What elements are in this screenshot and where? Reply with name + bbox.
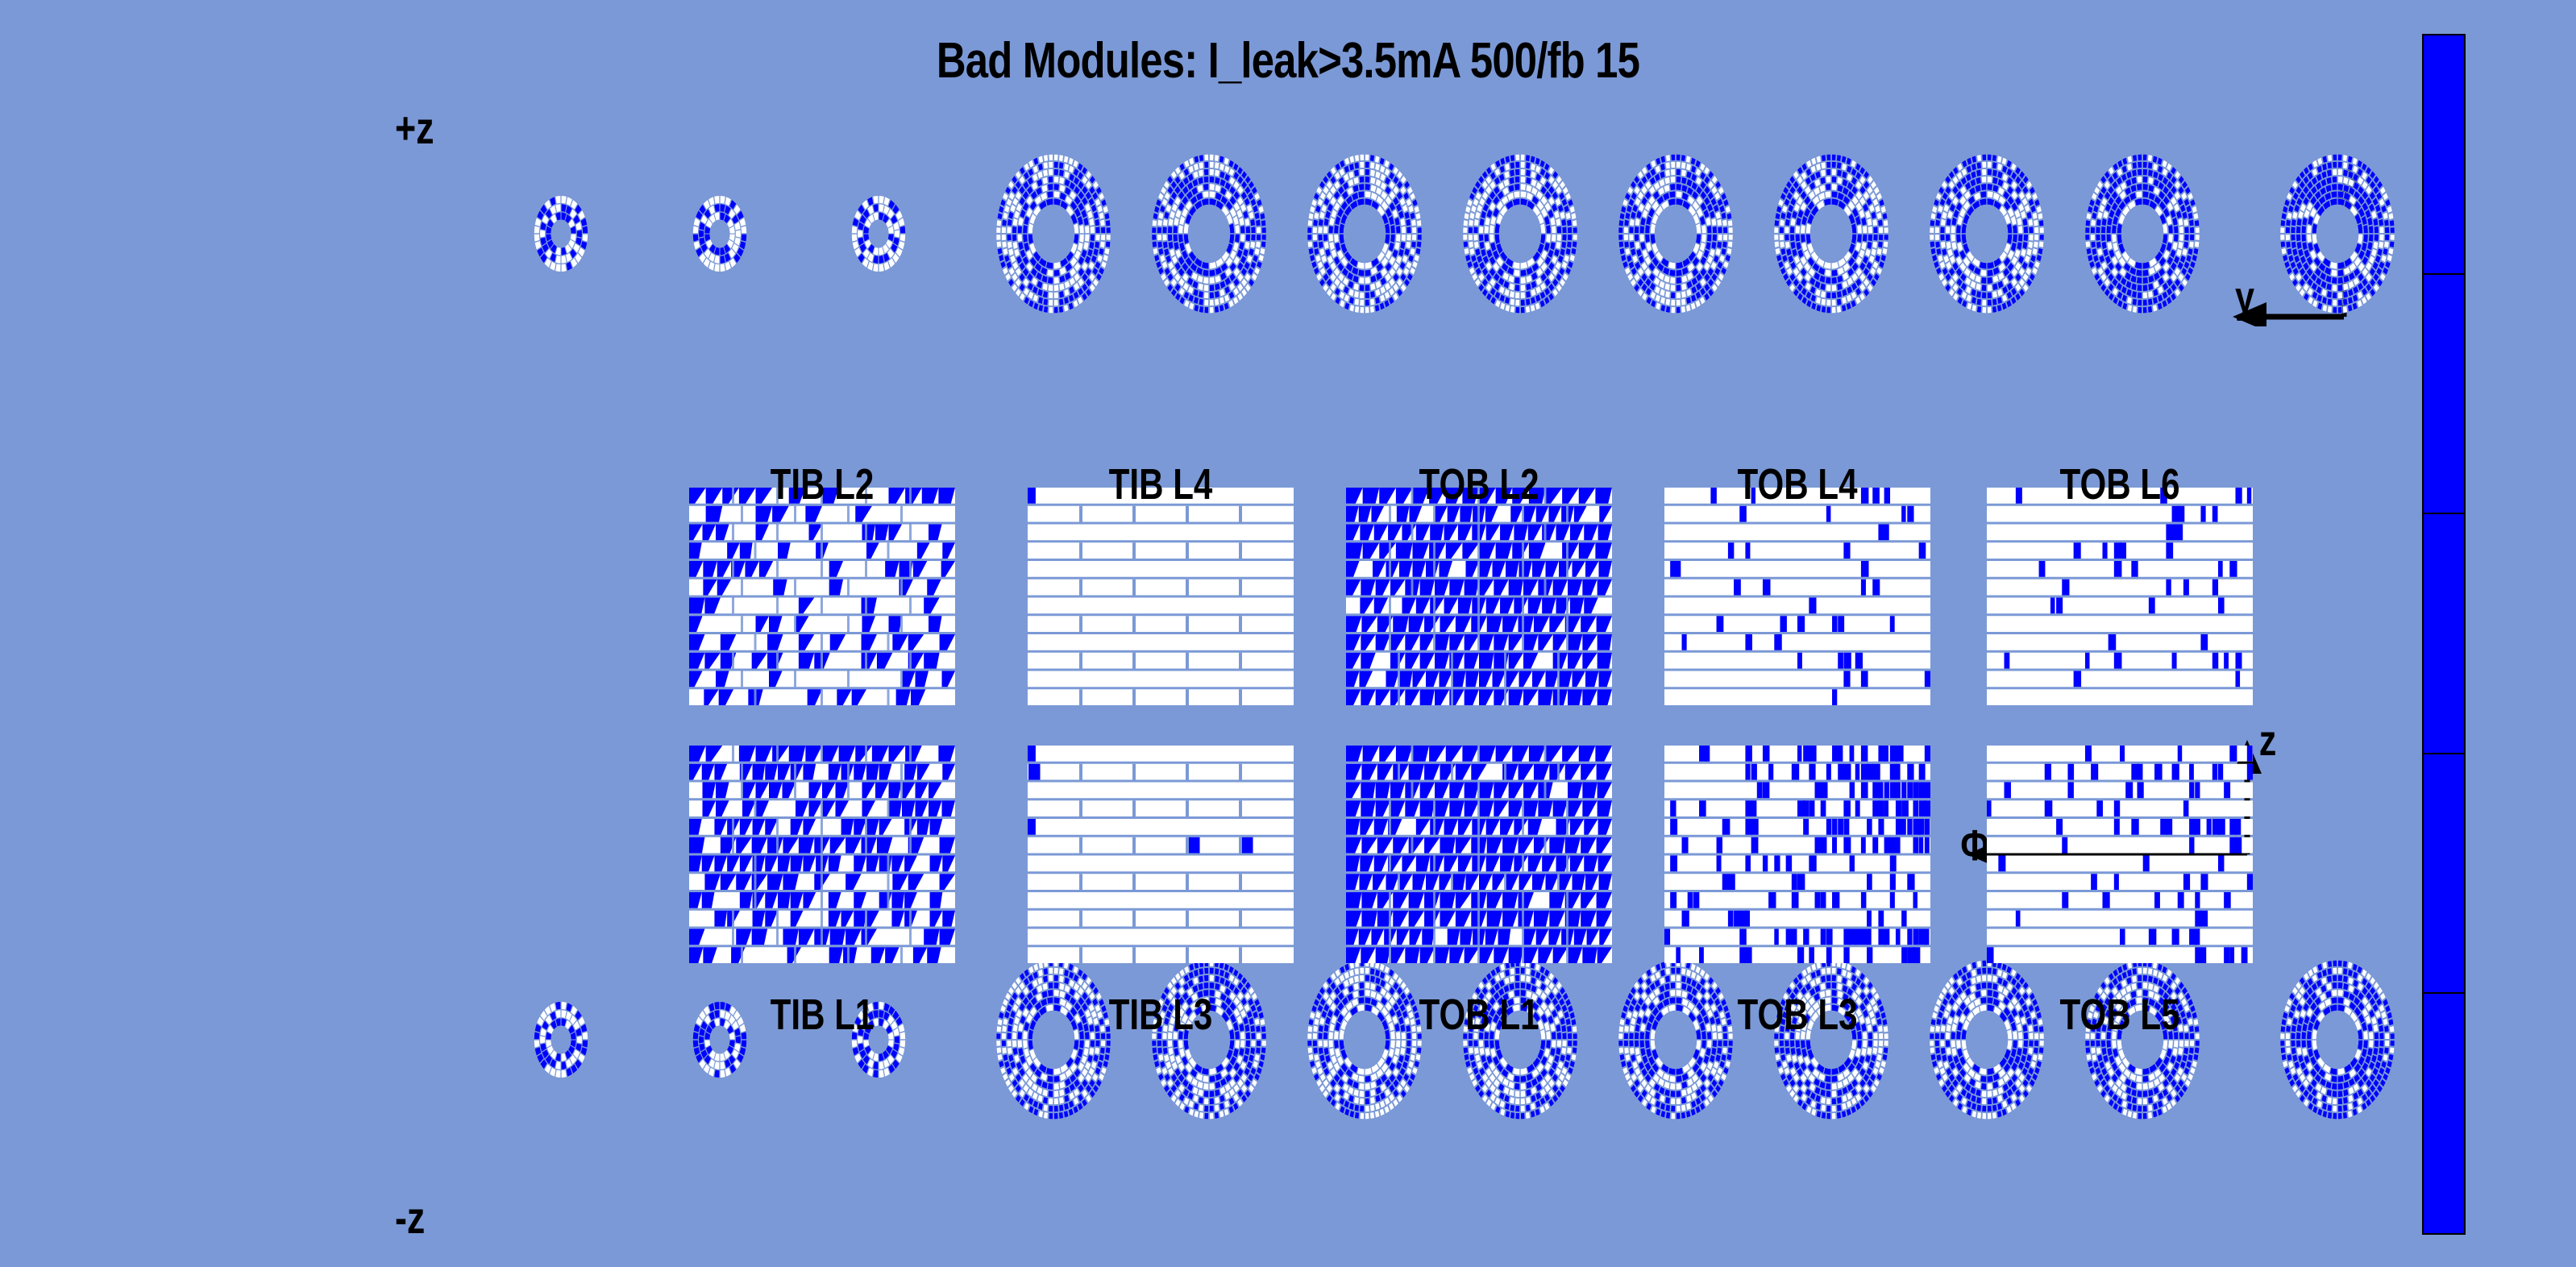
disk-module	[1323, 1024, 1329, 1032]
disk-module	[1349, 297, 1355, 305]
disk-module	[1365, 269, 1371, 276]
disk-module	[1048, 277, 1053, 285]
disk-module	[1168, 242, 1174, 250]
disk-module	[1048, 292, 1053, 298]
disk-module	[1089, 1048, 1095, 1056]
disk-module	[1871, 211, 1876, 219]
disk-module	[1406, 235, 1411, 241]
disk-module	[1059, 1097, 1065, 1104]
disk-module	[1883, 220, 1888, 226]
disk-module	[1676, 307, 1681, 314]
disk-module	[1639, 226, 1644, 234]
disk-module	[1531, 1111, 1535, 1118]
disk-module	[1312, 226, 1317, 233]
disk-module	[2122, 302, 2128, 310]
disk-module	[1664, 185, 1670, 193]
disk-module	[1727, 1047, 1732, 1053]
disk-module	[2337, 269, 2344, 276]
disk-module	[1354, 975, 1360, 982]
disk-module	[1043, 1104, 1048, 1111]
disk-module	[1365, 168, 1369, 175]
disk-module	[1104, 1053, 1110, 1061]
disk-module	[1521, 307, 1525, 314]
disk-module	[1873, 235, 1878, 241]
disk-module	[1059, 155, 1064, 162]
disk-module	[1375, 969, 1381, 977]
tec-disk[interactable]	[2078, 147, 2207, 321]
disk-module	[1239, 217, 1244, 226]
disk-module	[1404, 1054, 1410, 1062]
disk-module	[1048, 168, 1053, 175]
disk-module	[2317, 157, 2323, 165]
disk-module	[1245, 226, 1250, 233]
disk-module	[1514, 277, 1520, 285]
disk-module	[2018, 234, 2023, 242]
disk-module	[1531, 305, 1535, 312]
disk-module	[2322, 163, 2328, 171]
disk-module	[2132, 169, 2138, 177]
disk-module	[1867, 242, 1872, 250]
disk-module	[2026, 248, 2032, 256]
disk-module	[1635, 226, 1639, 233]
disk-module	[1152, 1047, 1157, 1053]
disk-module	[1831, 277, 1837, 285]
disk-module	[1412, 235, 1417, 241]
disk-module	[1047, 1075, 1053, 1082]
disk-module	[1415, 213, 1421, 220]
disk-module	[2138, 161, 2142, 168]
disk-module	[2348, 156, 2353, 163]
disk-module	[1323, 242, 1329, 250]
disk-module	[1884, 227, 1888, 234]
disk-module	[1244, 242, 1250, 250]
disk-module	[1711, 242, 1717, 250]
disk-module	[1194, 1111, 1199, 1118]
disk-module	[1660, 1111, 1665, 1118]
disk-module	[996, 227, 1001, 234]
disk-module	[1526, 283, 1531, 291]
disk-module	[2017, 242, 2022, 251]
disk-module	[1981, 168, 1986, 175]
disk-module	[1520, 285, 1526, 292]
disk-module	[1987, 168, 1992, 175]
disk-module	[2307, 225, 2312, 234]
disk-module	[1837, 305, 1842, 313]
disk-module	[1976, 177, 1981, 185]
disk-module	[1174, 217, 1179, 226]
disk-module	[1194, 163, 1199, 171]
disk-module	[1670, 982, 1676, 990]
disk-module	[2112, 234, 2117, 243]
disk-module	[2142, 285, 2148, 292]
disk-module	[999, 206, 1004, 213]
tid-disk[interactable]	[527, 189, 595, 279]
disk-module	[1359, 1083, 1365, 1090]
disk-module	[1307, 227, 1312, 234]
disk-module	[1152, 227, 1157, 234]
disk-module	[1816, 156, 1821, 163]
disk-module	[2281, 213, 2287, 220]
disk-module	[1715, 1054, 1721, 1062]
disk-module	[1365, 191, 1371, 198]
disk-module	[2092, 212, 2097, 219]
disk-module	[1414, 1061, 1419, 1068]
disk-module	[1837, 1081, 1843, 1089]
disk-module	[1314, 212, 1319, 219]
disk-module	[1785, 1047, 1791, 1054]
disk-module	[1375, 156, 1380, 163]
disk-module	[1669, 997, 1676, 1004]
disk-module	[1203, 292, 1208, 298]
disk-module	[2352, 302, 2358, 310]
disk-module	[1068, 302, 1074, 310]
disk-module	[1671, 967, 1676, 974]
disk-module	[2132, 291, 2138, 298]
disk-module	[1047, 997, 1053, 1004]
disk-module	[1624, 241, 1630, 248]
disk-module	[2085, 235, 2090, 241]
disk-module	[1064, 305, 1069, 312]
disk-module	[1468, 226, 1473, 233]
disk-module	[1629, 235, 1634, 241]
disk-module	[1520, 191, 1527, 198]
disk-module	[1987, 177, 1992, 184]
disk-module	[1514, 184, 1520, 191]
disk-module	[1105, 1047, 1110, 1053]
disk-module	[1573, 1041, 1577, 1047]
tec-disk[interactable]	[1145, 953, 1273, 1127]
disk-module	[1951, 234, 1955, 242]
tec-disk[interactable]	[1456, 953, 1585, 1127]
disk-module	[1012, 235, 1017, 242]
disk-module	[1546, 225, 1551, 234]
disk-module	[2337, 168, 2342, 175]
disk-module	[1095, 241, 1100, 248]
disk-module	[1406, 1041, 1411, 1047]
disk-module	[2327, 291, 2333, 298]
disk-module	[2377, 248, 2383, 256]
disk-module	[1821, 155, 1826, 162]
disk-module	[2131, 177, 2137, 185]
disk-module	[1660, 1103, 1666, 1111]
disk-module	[1068, 1108, 1074, 1116]
disk-module	[1569, 206, 1575, 213]
disk-module	[1194, 969, 1199, 977]
tec-disk[interactable]	[1611, 953, 1740, 1127]
tid-disk[interactable]	[686, 189, 754, 279]
disk-module	[1189, 302, 1195, 310]
disk-module	[1209, 1098, 1214, 1104]
tec-disk[interactable]	[989, 147, 1118, 321]
disk-module	[1003, 248, 1008, 255]
disk-module	[1359, 184, 1365, 191]
disk-module	[1396, 234, 1401, 242]
tec-disk[interactable]	[1767, 147, 1896, 321]
disk-module	[1560, 248, 1565, 256]
disk-module	[1318, 1032, 1323, 1039]
tec-disk[interactable]	[1456, 147, 1585, 321]
disk-module	[1359, 990, 1365, 997]
disk-module	[1645, 234, 1650, 243]
disk-module	[1568, 235, 1573, 241]
disk-module	[1334, 1031, 1339, 1040]
disk-module	[1515, 161, 1520, 168]
tec-disk[interactable]	[989, 953, 1118, 1127]
disk-module	[1053, 285, 1059, 292]
disk-module	[2032, 248, 2038, 255]
disk-module	[2281, 247, 2287, 255]
disk-module	[1997, 156, 2002, 163]
tec-disk[interactable]	[1300, 953, 1429, 1127]
disk-module	[1484, 234, 1489, 242]
disk-module	[1047, 269, 1053, 276]
disk-module	[1811, 302, 1817, 310]
tid-disk[interactable]	[527, 995, 595, 1085]
disk-module	[1876, 248, 1882, 255]
disk-module	[2142, 299, 2147, 305]
disk-module	[1776, 206, 1782, 213]
disk-module	[1842, 969, 1847, 977]
disk-module	[1826, 307, 1830, 314]
disk-module	[1569, 1061, 1575, 1068]
disk-module	[1785, 218, 1791, 226]
disk-module	[1360, 1105, 1365, 1111]
disk-module	[2195, 235, 2200, 241]
disk-module	[1535, 302, 1540, 310]
disk-module	[1706, 217, 1711, 226]
disk-module	[1463, 1047, 1468, 1053]
disk-module	[1520, 269, 1527, 276]
disk-module	[1203, 191, 1209, 198]
disk-module	[1344, 963, 1350, 971]
disk-module	[1635, 1024, 1640, 1032]
disk-module	[1365, 177, 1370, 184]
disk-module	[1930, 241, 1934, 247]
tec-disk[interactable]	[2273, 147, 2402, 321]
disk-module	[1002, 1047, 1008, 1054]
tec-disk[interactable]	[1767, 953, 1896, 1127]
disk-module	[1631, 1054, 1636, 1062]
disk-module	[2194, 241, 2199, 247]
disk-module	[2106, 234, 2111, 242]
disk-module	[1334, 1040, 1339, 1049]
disk-module	[1194, 305, 1199, 312]
disk-module	[2127, 305, 2132, 312]
disk-module	[1509, 283, 1514, 291]
disk-module	[1354, 155, 1359, 162]
disk-module	[1883, 1047, 1888, 1053]
disk-module	[1017, 1040, 1022, 1048]
disk-module	[1665, 1111, 1670, 1119]
disk-module	[1344, 302, 1350, 310]
disk-module	[1837, 169, 1843, 177]
disk-module	[2096, 218, 2102, 226]
disk-module	[2039, 227, 2044, 234]
disk-module	[1219, 297, 1225, 305]
disk-module	[2384, 219, 2390, 226]
disk-module	[1837, 275, 1843, 283]
disk-module	[1059, 305, 1064, 313]
disk-module	[1204, 307, 1208, 314]
disk-module	[2348, 163, 2354, 171]
disk-module	[1795, 234, 1800, 242]
disk-module	[1370, 291, 1376, 298]
disk-module	[2179, 235, 2183, 242]
disk-module	[1256, 219, 1261, 226]
disk-module	[1876, 212, 1882, 219]
disk-module	[1975, 185, 1981, 193]
disk-module	[1717, 241, 1722, 248]
disk-module	[1203, 177, 1209, 184]
disk-module	[1515, 967, 1520, 974]
disk-module	[2023, 235, 2028, 242]
disk-module	[1837, 291, 1843, 298]
disk-module	[1370, 1089, 1376, 1097]
disk-module	[2291, 226, 2296, 233]
disk-module	[2172, 242, 2178, 251]
disk-module	[2192, 255, 2197, 262]
disk-module	[1157, 219, 1163, 226]
disk-module	[1670, 990, 1676, 997]
disk-module	[1048, 1090, 1053, 1098]
disk-module	[1042, 1089, 1048, 1097]
disk-module	[1676, 177, 1681, 184]
disk-module	[2157, 302, 2163, 310]
disk-module	[1562, 235, 1567, 241]
disk-module	[1670, 1083, 1676, 1090]
disk-module	[1375, 163, 1381, 171]
disk-module	[1826, 1083, 1831, 1090]
disk-module	[1520, 161, 1525, 168]
disk-module	[2332, 184, 2337, 191]
disk-module	[1526, 1089, 1531, 1097]
disk-module	[1359, 285, 1365, 292]
disk-module	[2326, 177, 2332, 185]
disk-module	[1473, 1041, 1478, 1047]
disk-module	[1406, 218, 1411, 226]
disk-module	[1816, 305, 1821, 312]
disk-module	[1358, 191, 1365, 198]
disk-module	[2184, 226, 2189, 233]
disk-module	[1359, 277, 1365, 285]
disk-module	[1785, 1041, 1789, 1047]
disk-module	[1879, 235, 1884, 241]
disk-module	[2106, 226, 2111, 234]
disk-module	[2337, 177, 2343, 184]
disk-module	[1932, 206, 1938, 213]
disk-module	[1054, 1113, 1058, 1120]
tec-disk[interactable]	[1611, 147, 1740, 321]
disk-module	[1669, 191, 1676, 198]
disk-module	[1665, 162, 1670, 169]
disk-module	[2182, 248, 2188, 256]
disk-module	[879, 1070, 884, 1078]
disk-module	[1307, 241, 1312, 247]
disk-module	[1671, 307, 1675, 314]
disk-module	[1048, 1098, 1053, 1104]
disk-module	[1826, 277, 1831, 285]
disk-module	[1790, 1048, 1796, 1056]
disk-module	[1831, 299, 1836, 305]
disk-module	[1209, 1075, 1215, 1082]
tec-disk[interactable]	[1922, 147, 2051, 321]
disk-module	[1681, 975, 1687, 982]
disk-module	[2143, 154, 2147, 160]
disk-module	[1307, 1047, 1312, 1053]
tid-disk[interactable]	[845, 189, 912, 279]
disk-module	[2101, 218, 2107, 226]
disk-module	[1064, 163, 1070, 171]
disk-module	[1509, 1089, 1514, 1097]
disk-module	[1261, 1047, 1265, 1053]
disk-module	[1043, 169, 1049, 177]
disk-module	[1157, 1047, 1163, 1054]
disk-module	[2174, 226, 2179, 234]
disk-module	[2142, 184, 2148, 191]
disk-module	[1520, 1090, 1526, 1098]
disk-module	[1224, 157, 1229, 165]
disk-module	[2097, 248, 2103, 256]
tec-disk[interactable]	[1300, 147, 1429, 321]
disk-module	[1318, 235, 1323, 241]
disk-module	[1670, 292, 1675, 298]
disk-module	[2325, 185, 2332, 193]
disk-module	[1469, 1047, 1474, 1054]
disk-module	[1796, 242, 1801, 251]
disk-module	[1951, 217, 1957, 226]
disk-module	[1816, 969, 1822, 977]
disk-module	[1059, 968, 1064, 975]
disk-module	[2088, 255, 2093, 262]
disk-module	[1370, 1111, 1375, 1119]
disk-module	[2034, 219, 2039, 226]
disk-module	[2107, 242, 2113, 251]
disk-module	[1203, 277, 1209, 285]
disk-module	[1049, 1105, 1053, 1111]
disk-module	[1178, 1040, 1183, 1049]
disk-module	[996, 235, 1001, 241]
disk-module	[1776, 255, 1782, 262]
disk-module	[1987, 285, 1992, 292]
disk-module	[1780, 1054, 1786, 1061]
disk-module	[1090, 1041, 1095, 1048]
disk-module	[2122, 157, 2128, 165]
disk-module	[1105, 220, 1110, 226]
disk-module	[1312, 1041, 1317, 1047]
disk-module	[1619, 1019, 1625, 1026]
disk-module	[1308, 213, 1314, 220]
disk-module	[1083, 1048, 1089, 1057]
disk-module	[1219, 156, 1224, 163]
disk-module	[1569, 255, 1575, 262]
disk-module	[1721, 248, 1726, 255]
disk-module	[2190, 235, 2195, 241]
disk-module	[1068, 157, 1074, 165]
disk-module	[1352, 991, 1359, 999]
disk-module	[1572, 1047, 1577, 1053]
tec-disk[interactable]	[1145, 147, 1273, 321]
disk-module	[1475, 1054, 1481, 1062]
disk-module	[1645, 225, 1650, 234]
disk-module	[1475, 211, 1481, 219]
disk-module	[2136, 269, 2142, 276]
disk-module	[1479, 235, 1484, 242]
disk-module	[1510, 169, 1515, 177]
disk-module	[1882, 213, 1888, 220]
disk-module	[1307, 235, 1312, 241]
disk-module	[1153, 247, 1158, 255]
disk-module	[1690, 1108, 1696, 1116]
